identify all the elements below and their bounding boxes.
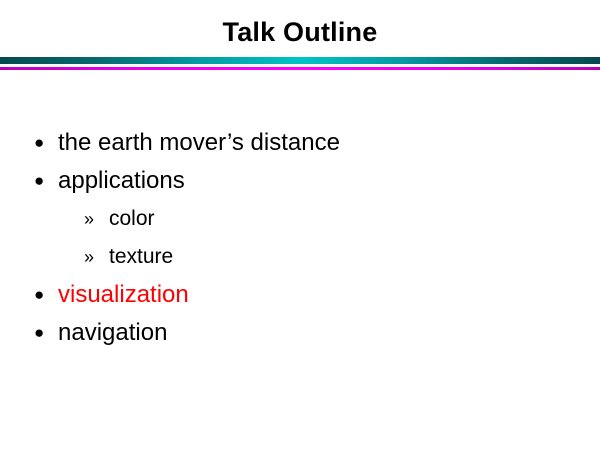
divider-accent-bar xyxy=(0,67,600,70)
list-item[interactable]: »color xyxy=(0,200,600,238)
bullet-guillemet-icon: » xyxy=(84,238,102,276)
list-item-label: navigation xyxy=(58,319,167,346)
list-item[interactable]: »texture xyxy=(0,238,600,276)
title-divider xyxy=(0,57,600,71)
list-item[interactable]: ●applications xyxy=(0,162,600,200)
page-title: Talk Outline xyxy=(0,16,600,48)
list-item-label: texture xyxy=(109,245,173,268)
bullet-dot-icon: ● xyxy=(34,276,48,314)
list-item-label: color xyxy=(109,207,155,230)
outline-list: ●the earth mover’s distance●applications… xyxy=(0,124,600,352)
presentation-slide: Talk Outline ●the earth mover’s distance… xyxy=(0,0,600,450)
divider-gradient-bar xyxy=(0,57,600,64)
bullet-dot-icon: ● xyxy=(34,314,48,352)
slide-body: ●the earth mover’s distance●applications… xyxy=(0,124,600,352)
list-item-label: visualization xyxy=(58,281,189,308)
list-item-label: applications xyxy=(58,167,185,194)
list-item[interactable]: ●navigation xyxy=(0,314,600,352)
list-item[interactable]: ●the earth mover’s distance xyxy=(0,124,600,162)
list-item[interactable]: ●visualization xyxy=(0,276,600,314)
bullet-dot-icon: ● xyxy=(34,162,48,200)
bullet-dot-icon: ● xyxy=(34,124,48,162)
bullet-guillemet-icon: » xyxy=(84,200,102,238)
list-item-label: the earth mover’s distance xyxy=(58,129,340,156)
